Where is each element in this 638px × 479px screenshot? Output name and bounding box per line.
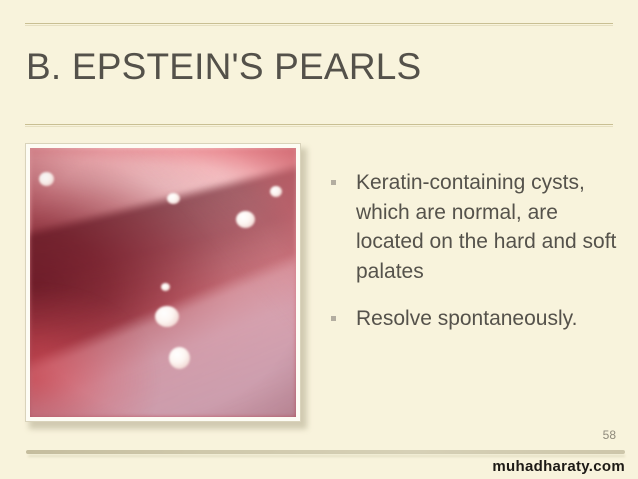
footer-divider-bar-shadow: [28, 455, 625, 457]
header-divider-top-shadow: [25, 25, 613, 26]
list-item-label: Resolve spontaneously.: [356, 307, 577, 330]
clinical-photo-figure: [25, 143, 305, 426]
header-divider-bottom: [25, 124, 613, 125]
list-item: Resolve spontaneously.: [328, 304, 618, 334]
list-item-label: Keratin-containing cysts, which are norm…: [356, 171, 616, 283]
epsteins-pearls-photograph: [30, 148, 296, 417]
site-watermark: muhadharaty.com: [492, 458, 625, 475]
square-bullet-icon: [331, 180, 336, 185]
bullet-list: Keratin-containing cysts, which are norm…: [328, 168, 618, 352]
page-number: 58: [603, 428, 616, 442]
header-divider-top: [25, 23, 613, 24]
footer-divider-bar: [26, 450, 625, 454]
list-item: Keratin-containing cysts, which are norm…: [328, 168, 618, 286]
photo-frame: [25, 143, 301, 422]
header-divider-bottom-shadow: [25, 126, 613, 127]
presentation-slide: B. EPSTEIN'S PEARLS: [0, 0, 638, 479]
square-bullet-icon: [331, 316, 336, 321]
page-title: B. EPSTEIN'S PEARLS: [26, 44, 421, 90]
